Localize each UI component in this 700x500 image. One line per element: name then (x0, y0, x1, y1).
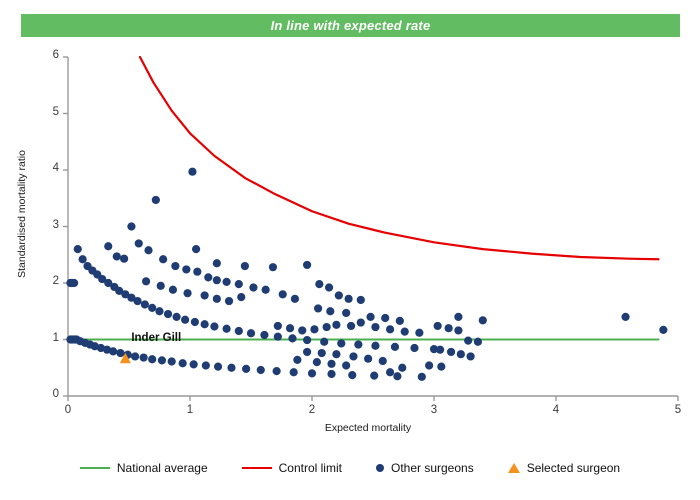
legend-item-national-average[interactable]: National average (80, 461, 208, 475)
x-tick-label-0: 0 (56, 404, 80, 416)
x-tick-label-3: 3 (422, 404, 446, 416)
x-tick-label-2: 2 (300, 404, 324, 416)
legend-line-swatch-icon (80, 467, 110, 469)
legend-label: National average (117, 461, 208, 475)
y-tick-label-1: 1 (35, 332, 59, 344)
legend-label: Control limit (279, 461, 342, 475)
x-axis-title: Expected mortality (268, 422, 468, 434)
legend-label: Selected surgeon (527, 461, 620, 475)
legend-dot-swatch-icon (376, 464, 384, 472)
chart-legend: National averageControl limitOther surge… (0, 455, 700, 481)
x-tick-label-4: 4 (544, 404, 568, 416)
legend-item-other-surgeons[interactable]: Other surgeons (376, 461, 474, 475)
legend-line-swatch-icon (242, 467, 272, 469)
y-tick-label-3: 3 (35, 219, 59, 231)
x-tick-label-1: 1 (178, 404, 202, 416)
y-axis-title: Standardised mortality ratio (16, 119, 28, 309)
y-tick-label-4: 4 (35, 162, 59, 174)
y-tick-label-5: 5 (35, 106, 59, 118)
selected-surgeon-label: Inder Gill (131, 332, 181, 344)
y-tick-label-0: 0 (35, 388, 59, 400)
legend-item-selected-surgeon[interactable]: Selected surgeon (508, 461, 620, 475)
legend-label: Other surgeons (391, 461, 474, 475)
y-tick-label-2: 2 (35, 275, 59, 287)
y-tick-label-6: 6 (35, 49, 59, 61)
legend-item-control-limit[interactable]: Control limit (242, 461, 342, 475)
x-tick-label-5: 5 (666, 404, 690, 416)
legend-triangle-swatch-icon (508, 463, 520, 473)
